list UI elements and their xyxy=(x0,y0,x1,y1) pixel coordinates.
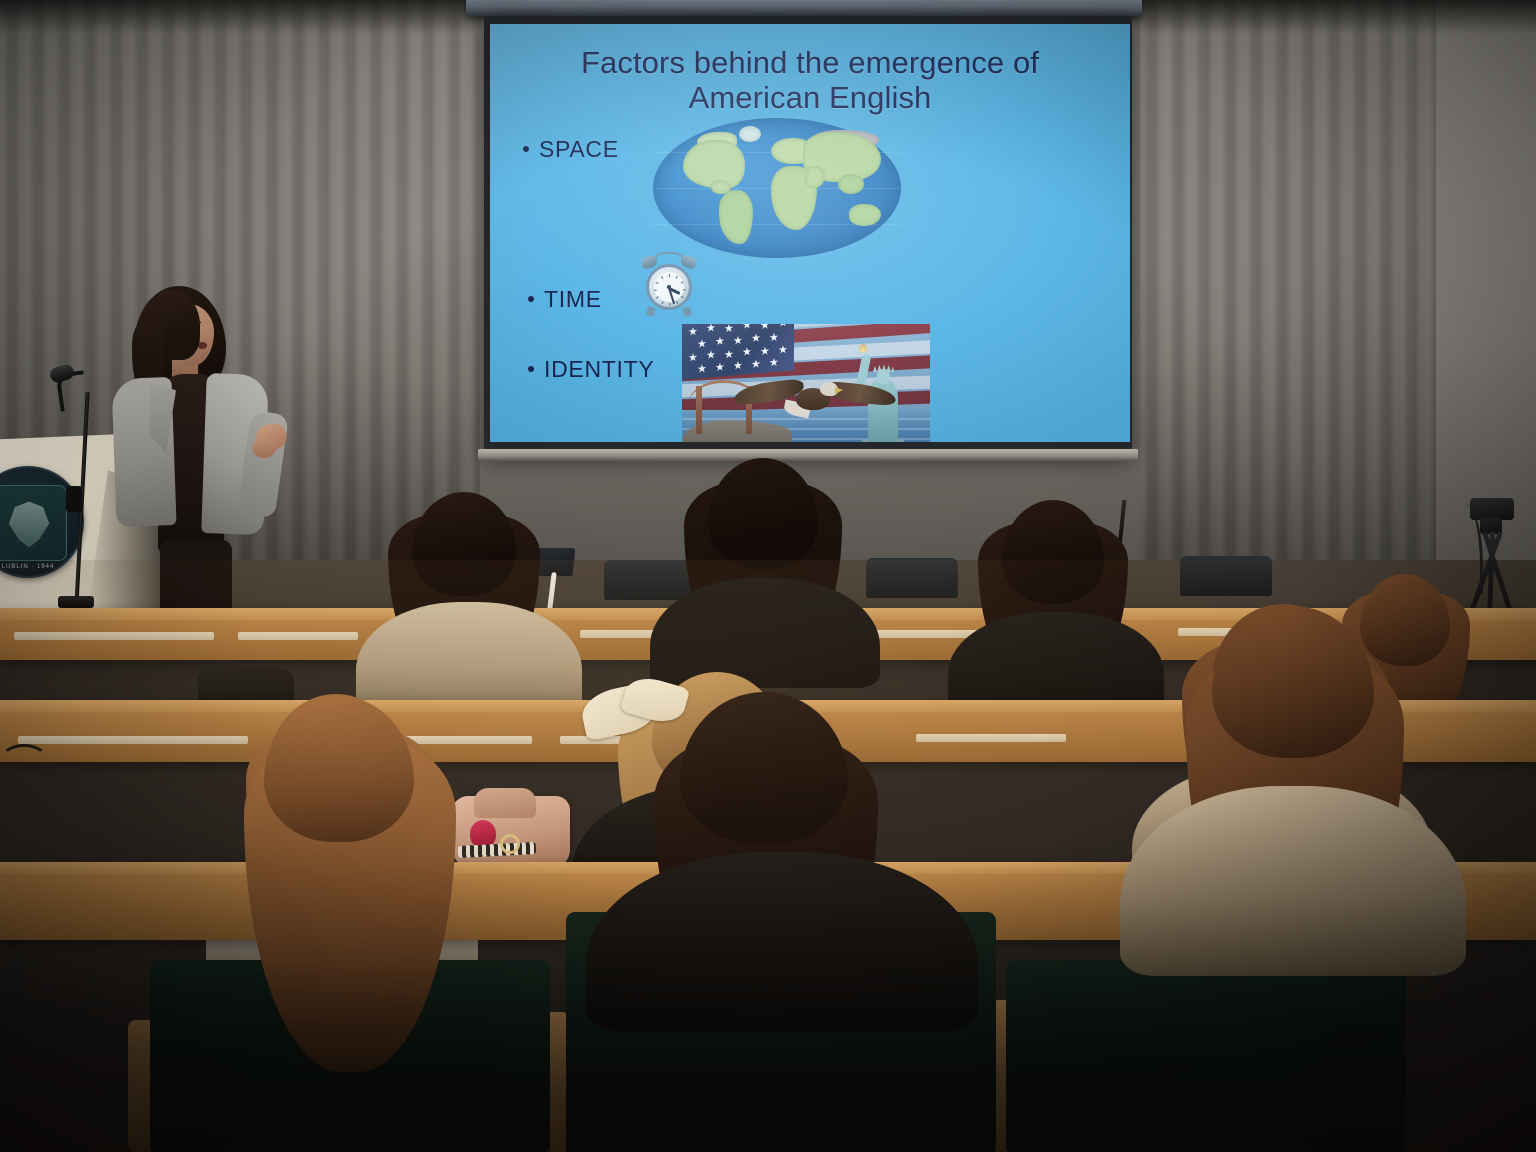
presenter-fingers xyxy=(252,438,276,458)
student-head xyxy=(264,696,414,842)
floor-cable xyxy=(0,744,48,776)
slide-bullet-identity: IDENTITY xyxy=(528,356,654,383)
clock-face xyxy=(654,272,684,302)
slide-title-line1: Factors behind the emergence of xyxy=(512,46,1108,81)
landmass-australia xyxy=(849,204,881,226)
landmass-southeast-asia xyxy=(838,174,864,194)
slide-bullet-identity-label: IDENTITY xyxy=(544,356,654,382)
lecture-hall-photograph: Factors behind the emergence of American… xyxy=(0,0,1536,1152)
clock-case xyxy=(646,264,692,310)
student-head xyxy=(1212,606,1374,758)
slide-bullet-time: TIME xyxy=(528,286,602,313)
landmass-south-america xyxy=(719,190,753,244)
student-head xyxy=(1002,500,1104,604)
slide-title-line2: American English xyxy=(512,81,1108,116)
bullet-dot-icon xyxy=(528,296,534,302)
front-chair-4 xyxy=(1180,556,1272,596)
world-map-image xyxy=(653,118,901,258)
presenter xyxy=(96,286,296,626)
slide-bullet-time-label: TIME xyxy=(544,286,602,312)
bald-eagle xyxy=(734,368,894,430)
presenter-mouth xyxy=(198,342,207,349)
bullet-dot-icon xyxy=(523,146,529,152)
student-foreground-right xyxy=(1114,600,1454,1030)
student-shoulders xyxy=(586,852,978,1032)
student-shoulders xyxy=(1120,786,1466,976)
presentation-slide: Factors behind the emergence of American… xyxy=(490,24,1130,442)
landmass-india xyxy=(805,166,825,188)
video-camera xyxy=(1470,498,1514,520)
desk-strip xyxy=(14,632,214,640)
student-head xyxy=(708,458,818,570)
clock-center-pin xyxy=(667,285,671,289)
torch-flame xyxy=(859,344,867,353)
american-identity-collage-image: ★ ★ ★ ★ ★ ★ ★ ★ ★ ★ ★ ★ ★ ★ ★ ★ ★ ★ ★ ★ xyxy=(682,324,930,442)
alarm-clock-image xyxy=(640,252,698,316)
university-emblem: MARII CURIE-SKŁODOWSKIEJ LUBLIN · 1944 xyxy=(0,466,84,578)
slide-title: Factors behind the emergence of American… xyxy=(512,46,1108,115)
clock-foot-left xyxy=(646,306,656,317)
eagle-beak xyxy=(835,387,843,394)
emblem-ring-text: MARII CURIE-SKŁODOWSKIEJ xyxy=(0,468,82,576)
emblem-year-text: LUBLIN · 1944 xyxy=(2,564,55,570)
slide-bullet-space: SPACE xyxy=(523,136,619,163)
landmass-greenland xyxy=(739,126,761,142)
student-row1-center xyxy=(650,458,880,678)
microphone-clamp xyxy=(66,486,82,512)
desk-strip xyxy=(238,632,358,640)
student-head xyxy=(412,492,516,596)
student-foreground-left xyxy=(196,694,496,1114)
student-foreground-center xyxy=(576,682,976,1022)
slide-bullet-space-label: SPACE xyxy=(539,136,619,162)
microphone-base xyxy=(58,596,94,608)
map-ocean xyxy=(653,118,901,258)
clock-foot-right xyxy=(682,306,692,317)
bridge-tower-left xyxy=(696,386,702,434)
screen-roller-housing xyxy=(466,0,1142,16)
handbag-ring xyxy=(500,834,520,854)
student-head xyxy=(680,692,848,844)
student-row1-left xyxy=(352,492,582,692)
bullet-dot-icon xyxy=(528,366,534,372)
statue-torch xyxy=(856,344,869,358)
